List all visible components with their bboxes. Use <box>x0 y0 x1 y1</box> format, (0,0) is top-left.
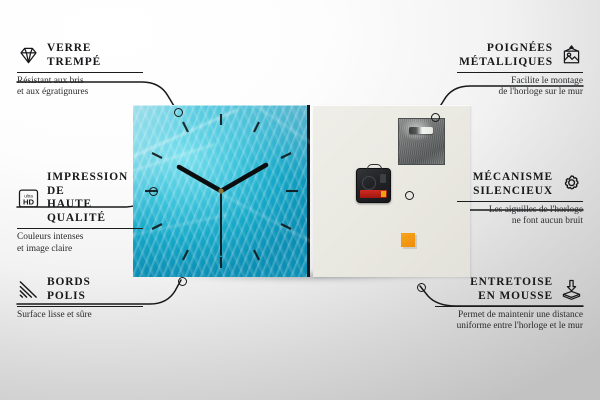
ultra-hd-icon: ultra HD <box>17 187 40 210</box>
hour-hand <box>179 167 221 191</box>
callout-sub-line1: Permet de maintenir une distance <box>435 310 583 321</box>
hanger-slot <box>409 127 433 134</box>
callout-title-line2: MÉTALLIQUES <box>459 56 553 70</box>
foam-spacer-icon <box>560 278 583 301</box>
mechanism-dial <box>362 176 376 190</box>
callout-sub-line2: et image claire <box>17 244 143 255</box>
polished-edge-icon <box>17 278 40 301</box>
callout-rule <box>17 228 143 229</box>
callout-sub-line2: ne font aucun bruit <box>457 216 583 227</box>
callout-rule <box>17 306 143 307</box>
mechanism-bail <box>367 164 382 173</box>
callout-rule <box>17 72 143 73</box>
picture-hanger-icon <box>560 44 583 67</box>
infographic-canvas: VERRE TREMPÉ Résistant aux bris et aux é… <box>0 0 600 400</box>
metal-hanger-plate <box>398 118 445 165</box>
dot-entretoise <box>417 283 426 292</box>
battery <box>360 190 387 198</box>
callout-sub-line2: uniforme entre l'horloge et le mur <box>435 321 583 332</box>
callout-sub-line1: Couleurs intenses <box>17 232 143 243</box>
callout-sub-line1: Surface lisse et sûre <box>17 310 143 321</box>
callout-sub-line2: et aux égratignures <box>17 87 143 98</box>
glass-clock-face <box>133 105 310 277</box>
callout-sub-line2: de l'horloge sur le mur <box>457 87 583 98</box>
dot-poignees <box>431 113 440 122</box>
callout-title-line1: BORDS <box>47 276 91 290</box>
diamond-icon <box>17 44 40 67</box>
callout-title-line2: TREMPÉ <box>47 56 101 70</box>
callout-title-line2: EN MOUSSE <box>470 290 553 304</box>
callout-title-line1: VERRE <box>47 42 101 56</box>
callout-impression-haute-qualite: ultra HD IMPRESSION DE HAUTE QUALITÉ Cou… <box>17 171 143 255</box>
callout-sub-line1: Résistant aux bris <box>17 76 143 87</box>
clock-mechanism <box>356 168 391 203</box>
callout-rule <box>457 201 583 202</box>
ultra-hd-icon-main: HD <box>23 197 35 206</box>
callout-rule <box>457 72 583 73</box>
callout-title-line1: MÉCANISME <box>473 171 553 185</box>
clock-dial <box>133 105 310 277</box>
dot-mecanisme <box>405 191 414 200</box>
callout-title-line2: HAUTE QUALITÉ <box>47 198 143 225</box>
callout-bords-polis: BORDS POLIS Surface lisse et sûre <box>17 276 143 321</box>
mechanism-knob <box>380 174 386 183</box>
callout-title-line2: SILENCIEUX <box>473 185 553 199</box>
callout-rule <box>435 306 583 307</box>
product-photo <box>133 105 470 277</box>
gear-icon <box>560 173 583 196</box>
dot-verre-trempe <box>174 108 183 117</box>
callout-entretoise-en-mousse: ENTRETOISE EN MOUSSE Permet de maintenir… <box>435 276 583 333</box>
callout-sub-line1: Facilite le montage <box>457 76 583 87</box>
foam-spacer <box>401 233 415 247</box>
callout-title-line1: ENTRETOISE <box>470 276 553 290</box>
callout-mecanisme-silencieux: MÉCANISME SILENCIEUX Les aiguilles de l'… <box>457 171 583 228</box>
dot-impression <box>149 187 158 196</box>
callout-verre-trempe: VERRE TREMPÉ Résistant aux bris et aux é… <box>17 42 143 99</box>
clock-back-panel <box>313 105 470 277</box>
dot-bords-polis <box>178 277 187 286</box>
callout-title-line1: POIGNÉES <box>459 42 553 56</box>
minute-hand <box>221 165 266 191</box>
callout-title-line2: POLIS <box>47 290 91 304</box>
callout-sub-line1: Les aiguilles de l'horloge <box>457 205 583 216</box>
callout-title-line1: IMPRESSION DE <box>47 171 143 198</box>
callout-poignees-metalliques: POIGNÉES MÉTALLIQUES Facilite le montage… <box>457 42 583 99</box>
